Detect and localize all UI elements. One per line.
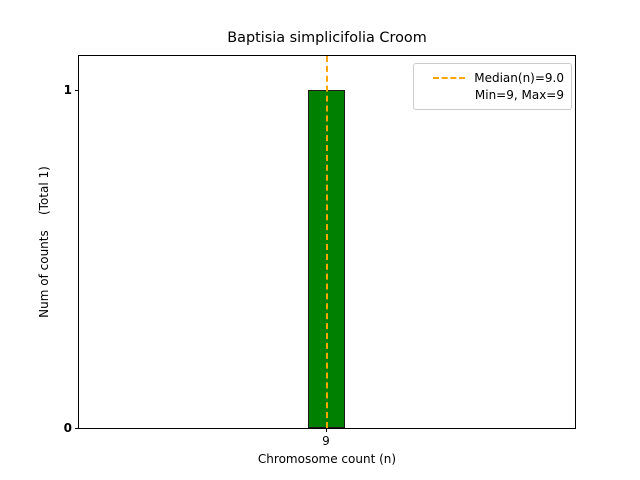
legend-item-minmax: Min=9, Max=9 <box>421 86 564 103</box>
legend-item-median-label: Median(n)=9.0 <box>474 71 564 85</box>
ytick-0-mark <box>75 428 79 429</box>
plot-inner <box>79 56 575 428</box>
ytick-1-label: 1 <box>64 83 72 97</box>
xtick-9-mark <box>326 428 327 432</box>
chart-title: Baptisia simplicifolia Croom <box>78 30 576 47</box>
chart-figure: Baptisia simplicifolia Croom 0 1 9 Media <box>0 0 640 480</box>
plot-area: 0 1 9 Median(n)=9.0 Min=9, Max=9 <box>78 55 576 429</box>
median-line <box>326 56 328 428</box>
legend-item-median: Median(n)=9.0 <box>421 69 564 86</box>
y-axis-label: Num of counts (Total 1) <box>37 166 51 318</box>
legend-item-minmax-label: Min=9, Max=9 <box>475 88 564 102</box>
ytick-1-mark <box>75 90 79 91</box>
xtick-9-label: 9 <box>322 434 330 448</box>
x-axis-label: Chromosome count (n) <box>78 452 576 466</box>
legend: Median(n)=9.0 Min=9, Max=9 <box>413 63 572 110</box>
ytick-0-label: 0 <box>64 421 72 435</box>
blank-swatch-icon <box>433 89 467 101</box>
dashed-line-icon <box>432 72 466 84</box>
